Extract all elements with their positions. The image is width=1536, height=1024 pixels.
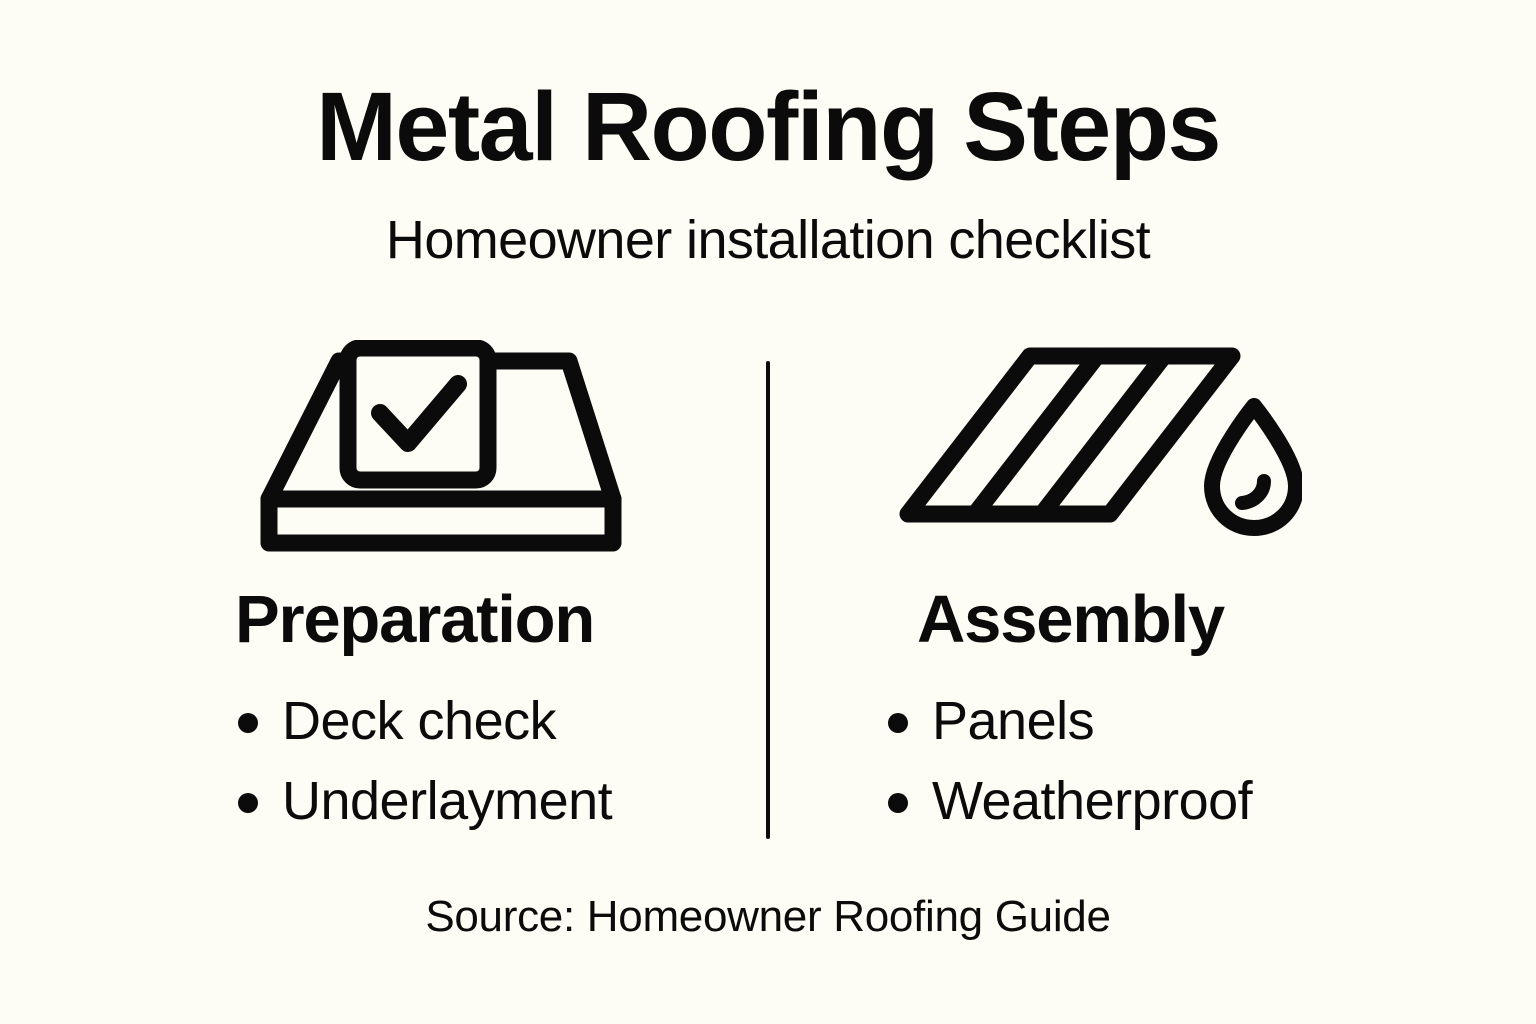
- bullet-label: Panels: [932, 694, 1094, 748]
- column-preparation: Preparation Deck check Underlayment: [150, 340, 750, 841]
- list-item: Deck check: [238, 681, 750, 761]
- page-title: Metal Roofing Steps: [0, 78, 1536, 175]
- source-caption: Source: Homeowner Roofing Guide: [0, 895, 1536, 939]
- roof-panels-droplet-icon: [892, 340, 1400, 570]
- bullet-dot-icon: [238, 713, 258, 733]
- bullet-dot-icon: [888, 793, 908, 813]
- column-divider: [766, 361, 770, 839]
- list-item: Underlayment: [238, 761, 750, 841]
- bullet-dot-icon: [888, 713, 908, 733]
- bullet-list-assembly: Panels Weatherproof: [888, 681, 1400, 841]
- bullet-list-preparation: Deck check Underlayment: [238, 681, 750, 841]
- list-item: Panels: [888, 681, 1400, 761]
- infographic-canvas: Metal Roofing Steps Homeowner installati…: [0, 0, 1536, 1024]
- page-subtitle: Homeowner installation checklist: [0, 213, 1536, 267]
- column-assembly: Assembly Panels Weatherproof: [800, 340, 1400, 841]
- bullet-dot-icon: [238, 793, 258, 813]
- bullet-label: Underlayment: [282, 774, 612, 828]
- list-item: Weatherproof: [888, 761, 1400, 841]
- bullet-label: Deck check: [282, 694, 556, 748]
- column-heading-preparation: Preparation: [235, 586, 750, 653]
- column-heading-assembly: Assembly: [917, 586, 1400, 653]
- deck-checkbox-icon: [256, 340, 750, 570]
- bullet-label: Weatherproof: [932, 774, 1252, 828]
